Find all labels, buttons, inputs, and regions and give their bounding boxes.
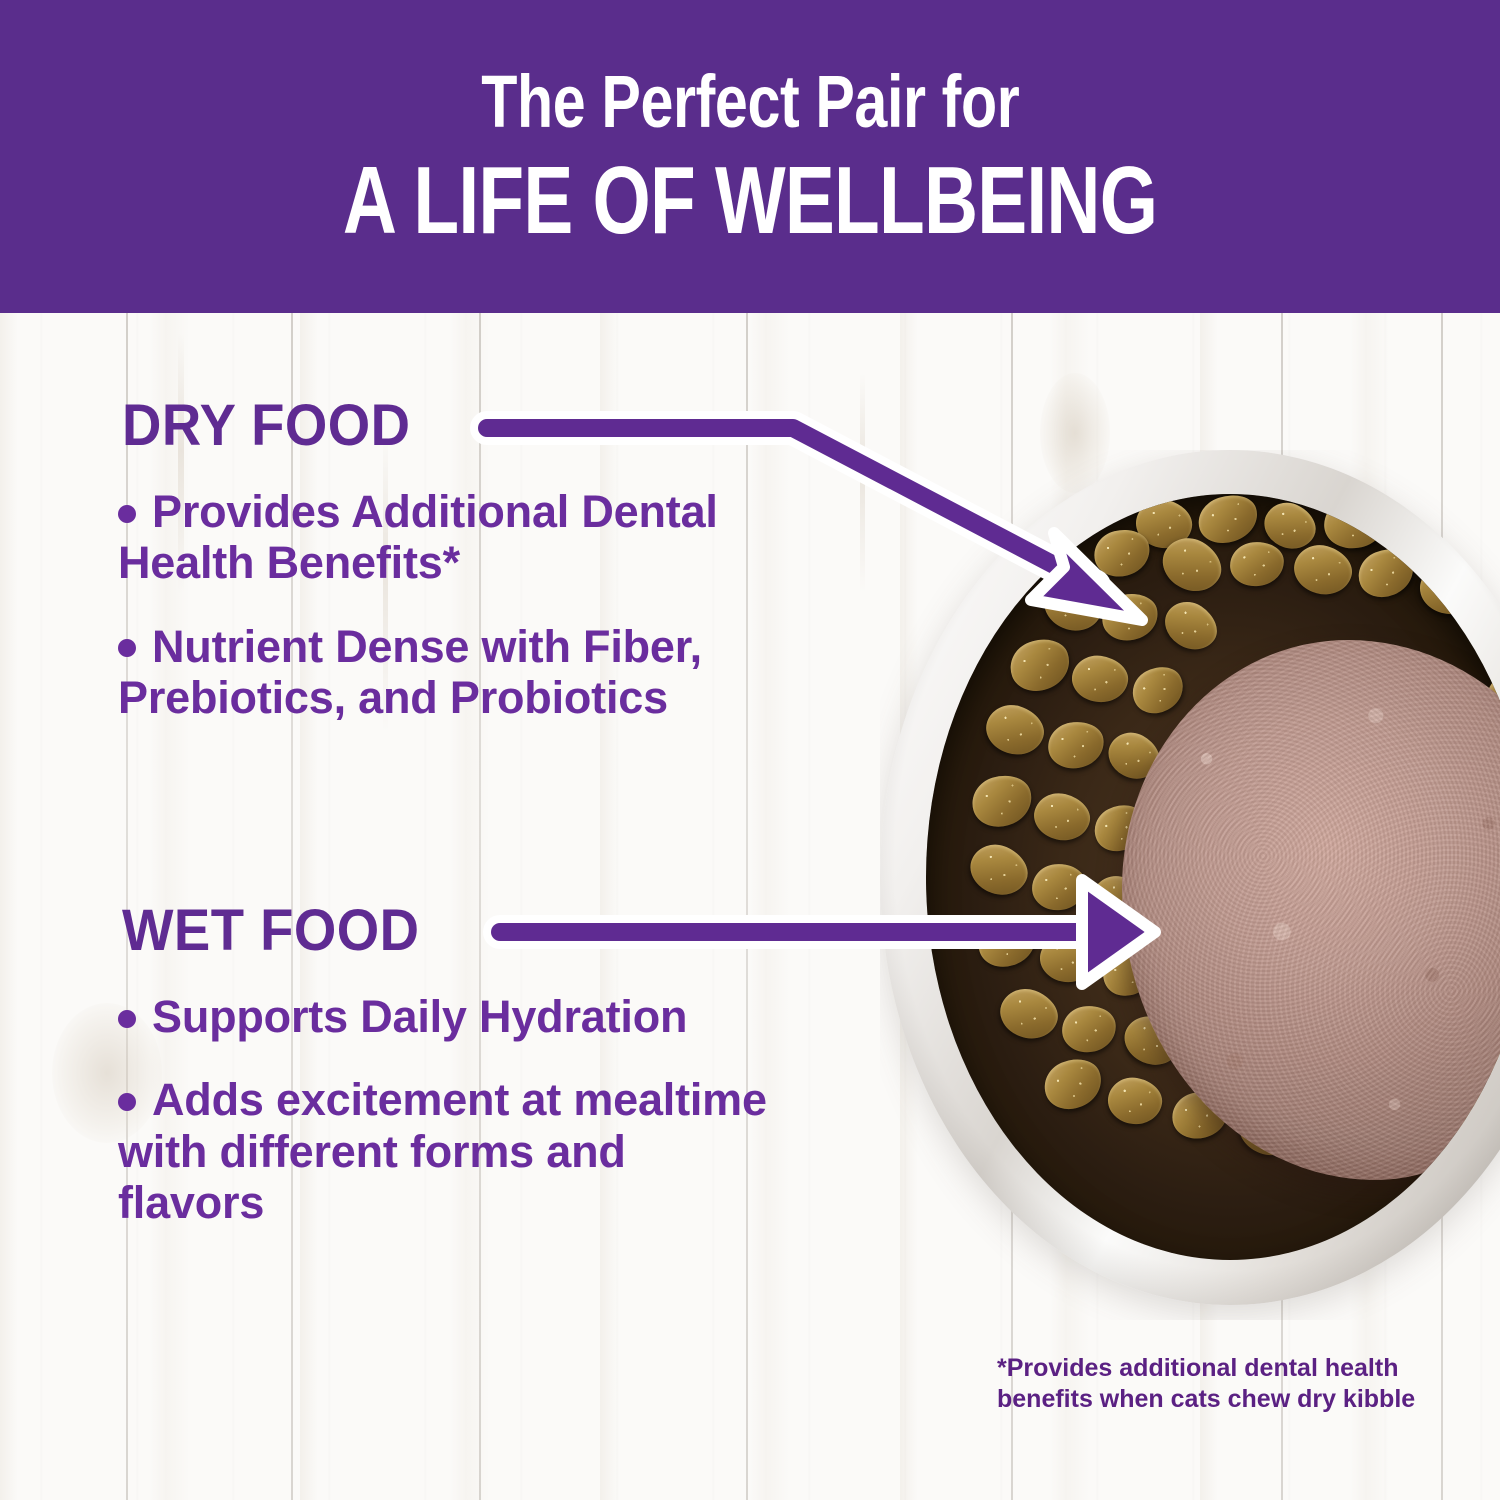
kibble-piece (1003, 631, 1076, 699)
bowl-interior (926, 494, 1500, 1260)
kibble-piece (966, 769, 1037, 834)
header-title-line-2: A LIFE OF WELLBEING (343, 153, 1157, 249)
bowl (880, 450, 1500, 1310)
header-title-line-1: The Perfect Pair for (481, 65, 1019, 139)
kibble-piece (1036, 931, 1098, 987)
list-item: Adds excitement at mealtime with differe… (118, 1074, 778, 1228)
list-item-text: Supports Daily Hydration (152, 991, 687, 1042)
infographic-root: The Perfect Pair for A LIFE OF WELLBEING (0, 0, 1500, 1500)
list-item: Supports Daily Hydration (118, 991, 778, 1042)
list-item-text: Provides Additional Dental Health Benefi… (118, 486, 718, 588)
list-item: Provides Additional Dental Health Benefi… (118, 486, 778, 589)
footnote-text: *Provides additional dental health benef… (997, 1353, 1427, 1414)
dry-food-bullet-list: Provides Additional Dental Health Benefi… (118, 486, 778, 755)
kibble-piece (1289, 539, 1358, 601)
list-item: Nutrient Dense with Fiber, Prebiotics, a… (118, 621, 778, 724)
text-column: DRY FOOD Provides Additional Dental Heal… (0, 313, 900, 1500)
kibble-piece (1029, 788, 1094, 846)
bullet-dot-icon (118, 639, 136, 657)
kibble-piece (1030, 861, 1089, 912)
kibble-piece (972, 910, 1042, 974)
kibble-piece (994, 982, 1065, 1047)
list-item-text: Nutrient Dense with Fiber, Prebiotics, a… (118, 621, 702, 723)
cat-food-bowl-photo (880, 450, 1500, 1320)
kibble-piece (1037, 1051, 1109, 1117)
wet-food-heading: WET FOOD (122, 902, 420, 960)
kibble-piece (1037, 573, 1109, 639)
dry-food-heading: DRY FOOD (122, 397, 411, 455)
kibble-piece (1228, 539, 1286, 588)
wet-food-bullet-list: Supports Daily Hydration Adds excitement… (118, 991, 778, 1260)
bullet-dot-icon (118, 1093, 136, 1111)
wet-food-pate (1122, 640, 1500, 1180)
kibble-piece (1098, 589, 1162, 646)
header-banner: The Perfect Pair for A LIFE OF WELLBEING (0, 0, 1500, 313)
kibble-piece (1059, 1002, 1119, 1055)
kibble-piece (980, 698, 1050, 762)
kibble-piece (963, 836, 1036, 903)
kibble-piece (1044, 717, 1107, 772)
bullet-dot-icon (118, 505, 136, 523)
list-item-text: Adds excitement at mealtime with differe… (118, 1074, 767, 1228)
bullet-dot-icon (118, 1010, 136, 1028)
